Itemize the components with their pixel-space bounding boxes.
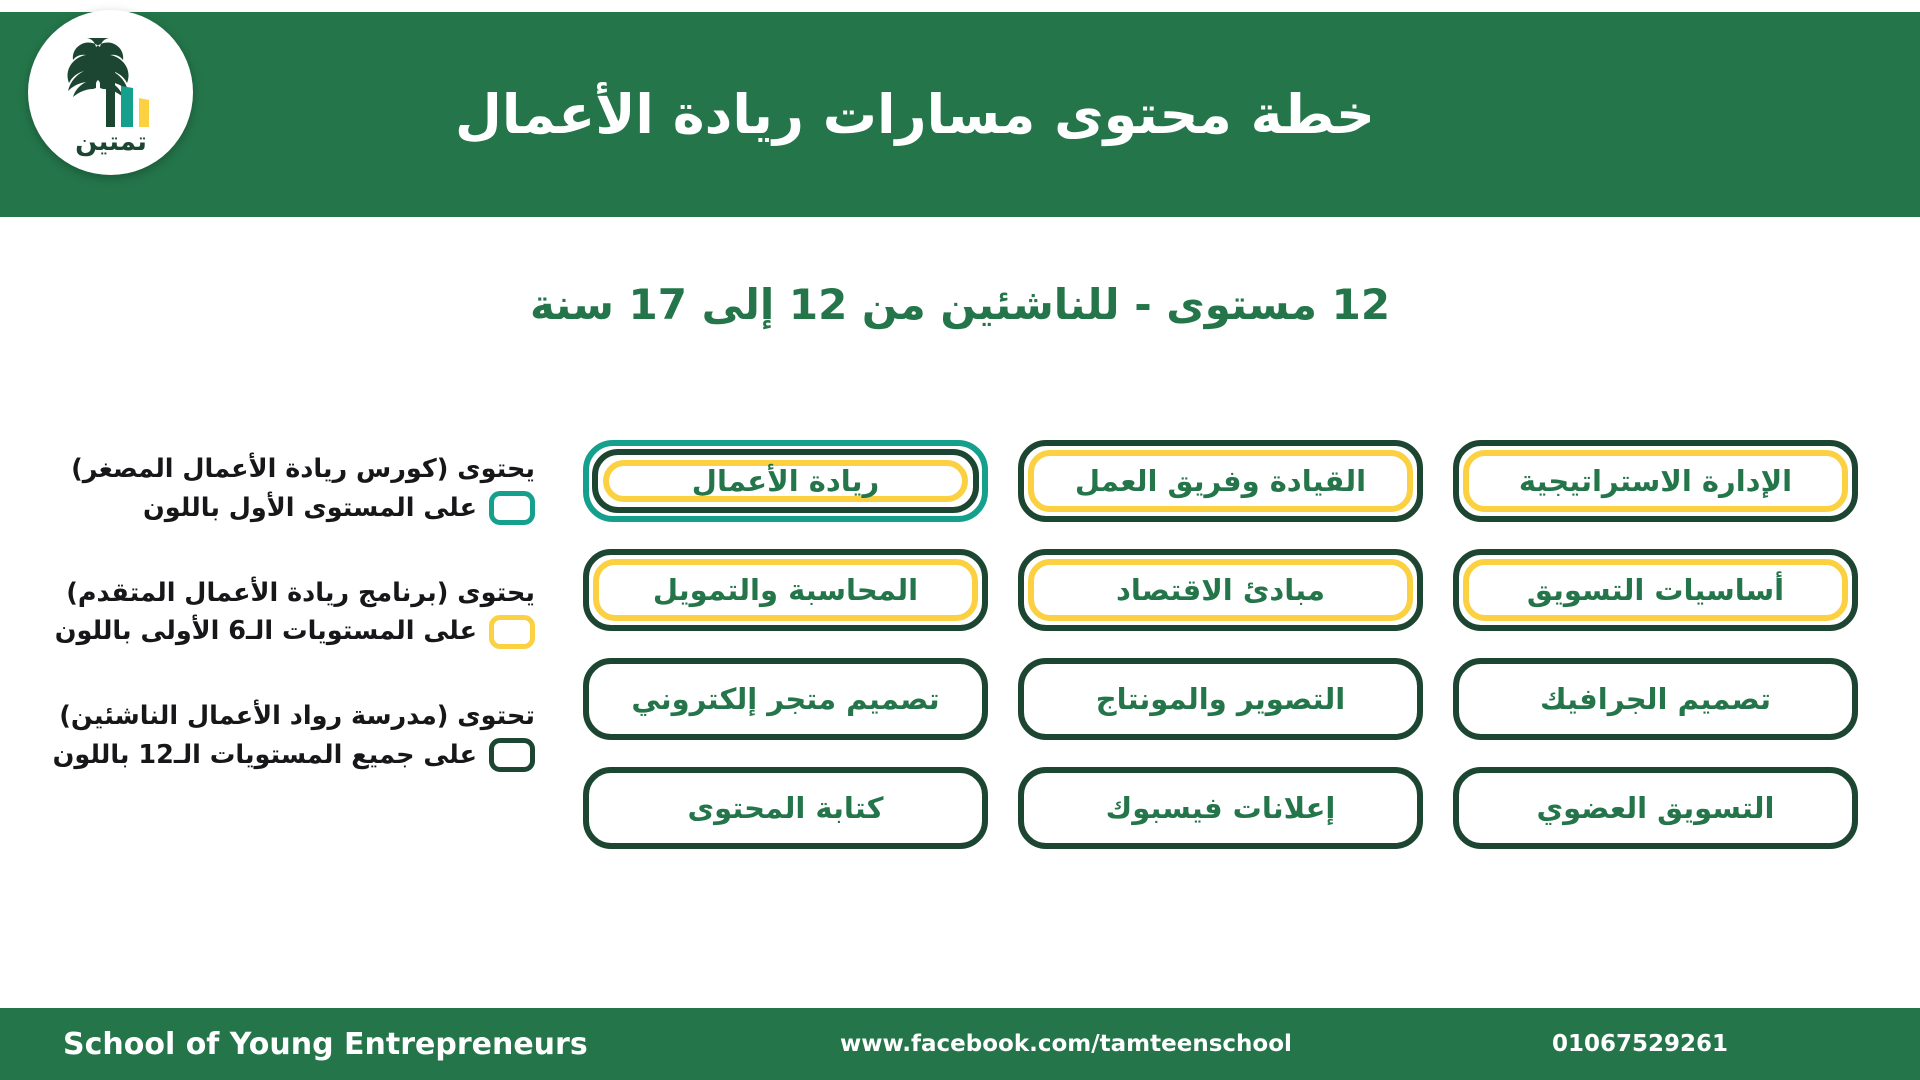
course-box-highlighted[interactable]: ريادة الأعمال [583,440,988,522]
teal-color-swatch [489,491,535,525]
legend-entry: يحتوى (برنامج ريادة الأعمال المتقدم) على… [30,574,535,652]
course-row: تصميم الجرافيك التصوير والمونتاج تصميم م… [573,658,1858,740]
course-label: أساسيات التسويق [1517,573,1794,607]
course-box[interactable]: القيادة وفريق العمل [1018,440,1423,522]
legend-line-2: على المستوى الأول باللون [30,489,535,528]
logo-wordmark: تمتين [75,127,147,157]
course-box[interactable]: مبادئ الاقتصاد [1018,549,1423,631]
dark-green-color-swatch [489,738,535,772]
course-row: الإدارة الاستراتيجية القيادة وفريق العمل… [573,440,1858,522]
legend-text-line-2: على المستوى الأول باللون [143,489,477,528]
course-label: المحاسبة والتمويل [643,573,928,607]
page-title: خطة محتوى مسارات ريادة الأعمال [455,83,1375,146]
course-label: إعلانات فيسبوك [1096,791,1346,825]
course-label: كتابة المحتوى [678,791,894,825]
course-box[interactable]: تصميم الجرافيك [1453,658,1858,740]
palm-tree-icon: تمتين [36,18,186,168]
course-box[interactable]: كتابة المحتوى [583,767,988,849]
course-box[interactable]: تصميم متجر إلكتروني [583,658,988,740]
legend-text-line-2: على المستويات الـ6 الأولى باللون [55,612,477,651]
course-label: ريادة الأعمال [682,464,889,498]
footer-facebook-url[interactable]: www.facebook.com/tamteenschool [840,1031,1292,1057]
course-label: الإدارة الاستراتيجية [1509,464,1802,498]
course-row: التسويق العضوي إعلانات فيسبوك كتابة المح… [573,767,1858,849]
course-label: تصميم متجر إلكتروني [621,682,949,716]
legend-text-line-2: على جميع المستويات الـ12 باللون [53,736,477,775]
footer-school-name: School of Young Entrepreneurs [63,1027,588,1062]
legend-text-line-1: يحتوى (كورس ريادة الأعمال المصغر) [30,450,535,489]
legend-line-2: على المستويات الـ6 الأولى باللون [30,612,535,651]
header-bar: خطة محتوى مسارات ريادة الأعمال [0,12,1920,217]
footer-phone-number[interactable]: 01067529261 [1552,1031,1728,1057]
legend-text-line-1: تحتوى (مدرسة رواد الأعمال الناشئين) [30,697,535,736]
legend-entry: يحتوى (كورس ريادة الأعمال المصغر) على ال… [30,450,535,528]
legend: يحتوى (كورس ريادة الأعمال المصغر) على ال… [30,450,535,821]
course-label: مبادئ الاقتصاد [1106,573,1335,607]
brand-logo: تمتين [28,10,193,175]
course-label: التسويق العضوي [1526,791,1784,825]
course-box[interactable]: المحاسبة والتمويل [583,549,988,631]
course-box[interactable]: إعلانات فيسبوك [1018,767,1423,849]
course-label: تصميم الجرافيك [1530,682,1781,716]
course-grid: الإدارة الاستراتيجية القيادة وفريق العمل… [573,440,1858,849]
legend-text-line-1: يحتوى (برنامج ريادة الأعمال المتقدم) [30,574,535,613]
course-label: القيادة وفريق العمل [1065,464,1376,498]
footer-bar: School of Young Entrepreneurs www.facebo… [0,1008,1920,1080]
course-label: التصوير والمونتاج [1086,682,1355,716]
course-row: أساسيات التسويق مبادئ الاقتصاد المحاسبة … [573,549,1858,631]
yellow-color-swatch [489,615,535,649]
legend-line-2: على جميع المستويات الـ12 باللون [30,736,535,775]
page-subtitle: 12 مستوى - للناشئين من 12 إلى 17 سنة [0,280,1920,329]
course-box[interactable]: التسويق العضوي [1453,767,1858,849]
course-box[interactable]: التصوير والمونتاج [1018,658,1423,740]
course-box[interactable]: أساسيات التسويق [1453,549,1858,631]
course-box[interactable]: الإدارة الاستراتيجية [1453,440,1858,522]
legend-entry: تحتوى (مدرسة رواد الأعمال الناشئين) على … [30,697,535,775]
